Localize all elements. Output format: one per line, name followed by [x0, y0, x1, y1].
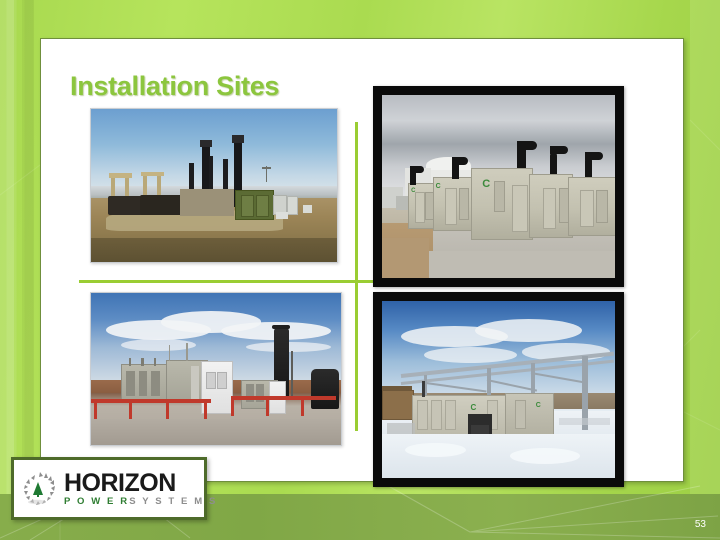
photo-top-left-scene	[91, 109, 337, 262]
logo-wordmark: HORIZON	[64, 471, 217, 496]
photo-bottom-right: C C	[373, 292, 624, 487]
logo-tagline-systems: S Y S T E M S	[129, 496, 217, 507]
photo-bottom-left	[90, 292, 342, 446]
photo-top-left	[90, 108, 338, 263]
logo-tagline-power: P O W E R	[64, 496, 129, 507]
horizon-power-systems-logo: HORIZON P O W E RS Y S T E M S	[11, 457, 207, 520]
background-band-right	[690, 0, 720, 540]
content-panel: Installation Sites	[40, 38, 684, 482]
logo-text-block: HORIZON P O W E RS Y S T E M S	[64, 471, 217, 507]
photo-top-right: C C C	[373, 86, 624, 287]
photo-bottom-right-scene: C C	[382, 301, 615, 478]
photo-bottom-left-scene	[91, 293, 341, 445]
gear-sun-with-pine-tree-icon	[20, 469, 60, 509]
page-number: 53	[695, 519, 706, 530]
divider-horizontal	[79, 280, 373, 283]
logo-tagline: P O W E RS Y S T E M S	[64, 497, 217, 507]
photo-top-right-scene: C C C	[382, 95, 615, 278]
page-title: Installation Sites	[70, 71, 279, 102]
divider-vertical	[355, 122, 358, 431]
slide-canvas: Installation Sites	[0, 0, 720, 540]
